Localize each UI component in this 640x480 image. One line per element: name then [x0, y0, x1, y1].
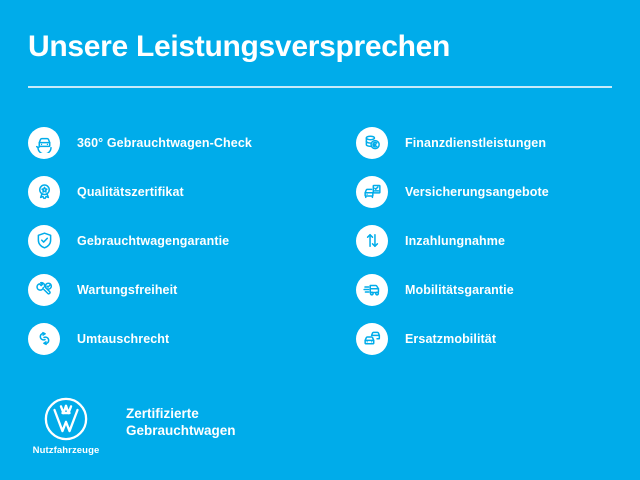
- brand-tagline-line1: Zertifizierte: [126, 405, 236, 422]
- brand-lockup: Nutzfahrzeuge Zertifizierte Gebrauchtwag…: [28, 396, 236, 456]
- promise-label: Gebrauchtwagengarantie: [77, 234, 229, 248]
- car-check-360-icon: [28, 127, 60, 159]
- promise-item-finanzdienstleistungen: Finanzdienstleistungen: [356, 118, 636, 167]
- promise-item-qualitaetszertifikat: Qualitätszertifikat: [28, 167, 348, 216]
- promise-label: Inzahlungnahme: [405, 234, 505, 248]
- promise-label: Finanzdienstleistungen: [405, 136, 546, 150]
- promises-right-column: Finanzdienstleistungen Versicherungsange…: [356, 118, 636, 363]
- volkswagen-logo-icon: [43, 396, 89, 442]
- promise-item-umtauschrecht: Umtauschrecht: [28, 314, 348, 363]
- logo-block: Nutzfahrzeuge: [28, 396, 104, 456]
- shield-check-icon: [28, 225, 60, 257]
- promise-label: 360° Gebrauchtwagen-Check: [77, 136, 252, 150]
- arrows-up-down-icon: [356, 225, 388, 257]
- promise-label: Wartungsfreiheit: [77, 283, 177, 297]
- coins-euro-icon: [356, 127, 388, 159]
- promise-item-ersatzmobilitaet: Ersatzmobilität: [356, 314, 636, 363]
- wrench-check-icon: [28, 274, 60, 306]
- award-rosette-icon: [28, 176, 60, 208]
- promise-label: Mobilitätsgarantie: [405, 283, 514, 297]
- promise-item-gebrauchtwagengarantie: Gebrauchtwagengarantie: [28, 216, 348, 265]
- promise-item-wartungsfreiheit: Wartungsfreiheit: [28, 265, 348, 314]
- promise-label: Umtauschrecht: [77, 332, 169, 346]
- promise-item-gebrauchtwagen-check: 360° Gebrauchtwagen-Check: [28, 118, 348, 167]
- car-document-check-icon: [356, 176, 388, 208]
- van-motion-icon: [356, 274, 388, 306]
- promise-label: Versicherungsangebote: [405, 185, 549, 199]
- two-cars-icon: [356, 323, 388, 355]
- promise-item-mobilitaetsgarantie: Mobilitätsgarantie: [356, 265, 636, 314]
- header-divider: [28, 86, 612, 88]
- promises-left-column: 360° Gebrauchtwagen-Check Qualitätszerti…: [28, 118, 348, 363]
- brand-tagline-line2: Gebrauchtwagen: [126, 422, 236, 439]
- promise-label: Ersatzmobilität: [405, 332, 496, 346]
- promise-label: Qualitätszertifikat: [77, 185, 184, 199]
- exchange-arrows-icon: [28, 323, 60, 355]
- promise-item-inzahlungnahme: Inzahlungnahme: [356, 216, 636, 265]
- brand-word: Nutzfahrzeuge: [33, 445, 100, 456]
- slide-canvas: Unsere Leistungsversprechen 360° Gebrauc…: [0, 0, 640, 480]
- brand-tagline: Zertifizierte Gebrauchtwagen: [126, 405, 236, 439]
- promise-item-versicherungsangebote: Versicherungsangebote: [356, 167, 636, 216]
- page-title: Unsere Leistungsversprechen: [28, 30, 450, 64]
